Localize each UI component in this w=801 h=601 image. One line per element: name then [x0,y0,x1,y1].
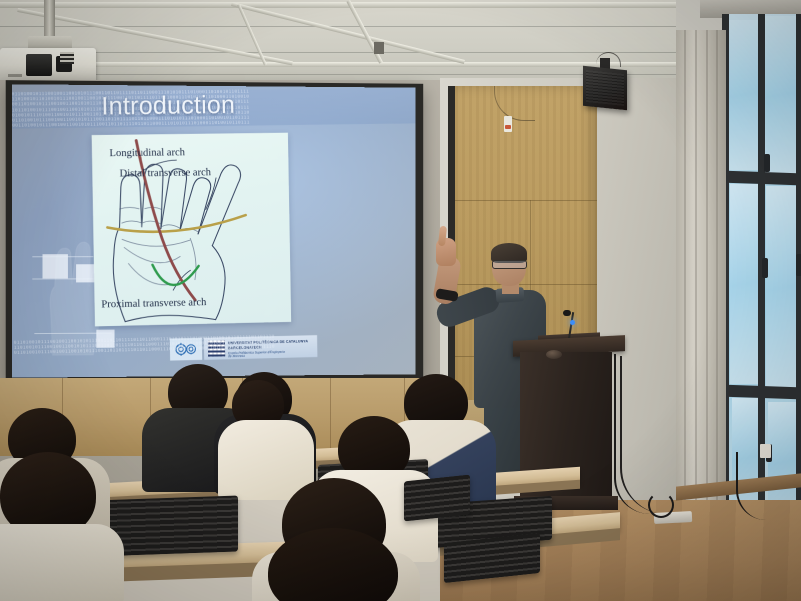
projector-vent [60,52,74,64]
speaker-grille-icon [586,70,624,106]
ceiling-vent-icon [374,42,384,54]
window-latch-icon[interactable] [764,154,770,172]
lectern-cable-2 [620,356,666,514]
gooseneck-microphone [563,310,571,316]
projector-lens-icon [26,54,52,76]
slide-title: Introduction [101,91,235,122]
lectern-knob-icon [546,350,562,359]
label-distal-transverse-arch: Distal transverse arch [120,167,212,179]
watermark-square [76,264,94,282]
window-handle-right-icon[interactable] [796,254,801,276]
smoke-detector-icon [504,116,512,132]
cable-loop [648,492,674,518]
projector-mount-pole [44,0,55,40]
alarm-led-indicator [505,125,511,129]
curtain[interactable] [676,30,726,530]
classroom-presentation-photo: 0110100101110010011001010111001101101111… [0,0,801,601]
label-longitudinal-arch: Longitudinal arch [109,147,185,159]
eyeglasses-icon [492,260,527,269]
chair-back [404,475,470,522]
watermark-square [43,254,68,278]
microphone-led-indicator [570,320,575,325]
window-handle-icon[interactable] [762,258,768,278]
projection-screen: 0110100101110010011001010111001101101111… [12,84,416,377]
label-proximal-transverse-arch: Proximal transverse arch [101,297,206,310]
